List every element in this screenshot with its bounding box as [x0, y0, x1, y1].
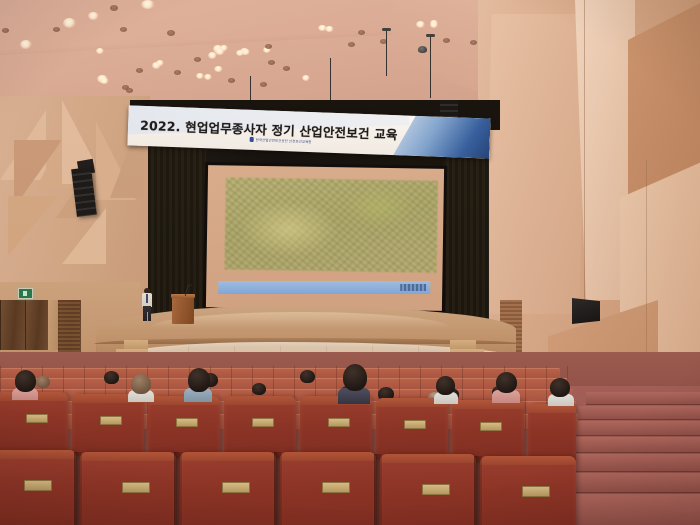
projection-screen	[206, 165, 444, 311]
seat-front-row[interactable]	[180, 452, 276, 525]
aisle-step	[586, 392, 700, 405]
downlight-icon	[63, 18, 76, 28]
exit-sign-icon	[18, 288, 33, 299]
wall-facet	[8, 196, 58, 256]
ceiling-can-icon	[194, 57, 201, 62]
seat-trim	[224, 396, 296, 405]
ceiling-can-icon	[265, 44, 272, 49]
seat[interactable]	[376, 398, 448, 460]
seat-number-plate	[322, 482, 350, 493]
seat-gap-shadow	[374, 454, 382, 525]
ceiling-can-icon	[136, 68, 143, 73]
audience-head	[131, 374, 151, 394]
audience-head	[15, 370, 36, 392]
ceiling-can-icon	[348, 42, 355, 47]
ceiling-rod-cap	[382, 28, 391, 31]
seat[interactable]	[0, 392, 68, 454]
door-panel-wall	[48, 300, 58, 350]
ceiling-can-icon	[126, 88, 133, 93]
audience-head	[252, 383, 266, 395]
projection-screen-frame	[203, 162, 447, 314]
ceiling-can-icon	[2, 28, 9, 33]
ceiling-can-icon	[260, 82, 267, 87]
seat-number-plate	[222, 482, 250, 493]
podium-body	[172, 296, 194, 324]
ceiling-can-icon	[268, 60, 275, 65]
seat-number-plate	[252, 418, 274, 427]
seat-trim	[280, 452, 376, 461]
seat-trim	[0, 450, 76, 459]
seat-gap-shadow	[274, 452, 282, 525]
wall-facet	[62, 208, 106, 264]
presenter-tie	[146, 294, 148, 303]
downlight-icon	[88, 12, 99, 20]
ceiling-can-icon	[167, 30, 175, 36]
downlight-icon	[220, 45, 228, 51]
seat-front-row[interactable]	[380, 454, 476, 525]
ceiling-rod	[386, 30, 387, 76]
ceiling-can-icon	[120, 27, 127, 32]
ceiling-can-icon	[443, 38, 450, 43]
audience-head	[436, 376, 455, 395]
seat-number-plate	[404, 420, 426, 429]
right-wall-panel-a	[484, 14, 586, 314]
ceiling-camera-icon	[418, 46, 427, 53]
seat-number-plate	[522, 486, 550, 497]
downlight-icon	[208, 52, 217, 59]
ceiling-can-icon	[53, 27, 60, 32]
audience-head	[188, 368, 210, 392]
seat-number-plate	[24, 480, 52, 491]
downlight-icon	[141, 0, 155, 9]
seat-gap-shadow	[174, 452, 182, 525]
audience-head	[36, 376, 50, 388]
presenter-leg-gap	[147, 312, 148, 321]
ceiling-can-icon	[174, 70, 181, 75]
downlight-icon	[302, 75, 310, 81]
ceiling-rod	[330, 58, 331, 100]
ceiling-can-icon	[110, 5, 118, 11]
seat[interactable]	[148, 396, 220, 458]
aisle-step	[578, 406, 700, 420]
organizer-logo-icon	[250, 137, 254, 142]
audience-head	[550, 378, 570, 397]
ceiling-can-icon	[283, 66, 290, 71]
seat-trim	[380, 454, 476, 463]
projection-subtitle-bar	[218, 281, 430, 294]
downlight-icon	[214, 66, 223, 72]
organizer-logo-text: 한국산업안전보건공단 안전보건교육원	[256, 137, 312, 144]
seat-number-plate	[422, 484, 450, 495]
aisle-step	[570, 421, 700, 436]
seat[interactable]	[528, 404, 576, 462]
seat-number-plate	[176, 418, 198, 427]
seat[interactable]	[72, 394, 144, 456]
presenter	[141, 288, 153, 322]
downlight-icon	[156, 60, 164, 66]
downlight-icon	[20, 40, 32, 49]
seat-front-row[interactable]	[0, 450, 76, 525]
ceiling-can-icon	[228, 78, 235, 83]
seat-gap-shadow	[74, 452, 82, 525]
downlight-icon	[318, 25, 327, 31]
audience-head	[343, 364, 367, 391]
seat[interactable]	[452, 400, 524, 462]
louver-panel	[58, 300, 80, 352]
audience-head	[300, 370, 315, 383]
seat-number-plate	[122, 482, 150, 493]
audience-head	[496, 372, 517, 393]
ceiling-rod-cap	[426, 34, 435, 37]
downlight-icon	[236, 50, 244, 56]
seat-front-row[interactable]	[80, 452, 176, 525]
seat-number-plate	[100, 416, 122, 425]
downlight-icon	[416, 21, 425, 28]
downlight-icon	[96, 48, 104, 54]
aisle-step	[562, 437, 700, 453]
seat[interactable]	[300, 396, 372, 458]
seat[interactable]	[224, 396, 296, 458]
wall-speaker-right	[572, 298, 600, 324]
podium	[172, 290, 194, 324]
seat-number-plate	[26, 414, 48, 423]
seat-number-plate	[480, 422, 502, 431]
downlight-icon	[204, 74, 212, 80]
ceiling-can-icon	[470, 40, 477, 45]
auditorium-photo: 2022. 현업업무종사자 정기 산업안전보건 교육 한국산업안전보건공단 안전…	[0, 0, 700, 525]
seat-trim	[180, 452, 276, 461]
auditorium-door-left-b[interactable]	[25, 300, 48, 350]
seat-front-row[interactable]	[480, 456, 576, 525]
ceiling-rod	[430, 36, 431, 98]
audience-head	[104, 371, 119, 384]
projection-badge-icon	[400, 284, 426, 291]
seat-trim	[80, 452, 176, 461]
projected-video-content	[224, 177, 437, 272]
seat-trim	[480, 456, 576, 465]
podium-top	[171, 294, 195, 298]
downlight-icon	[430, 22, 438, 28]
auditorium-door-left-a[interactable]	[0, 300, 25, 350]
seat-number-plate	[328, 418, 350, 427]
ceiling-can-icon	[358, 30, 365, 35]
right-wall-seam	[584, 0, 585, 300]
seat-gap-shadow	[474, 456, 482, 525]
seat-front-row[interactable]	[280, 452, 376, 525]
downlight-icon	[196, 73, 204, 79]
downlight-icon	[100, 78, 109, 84]
